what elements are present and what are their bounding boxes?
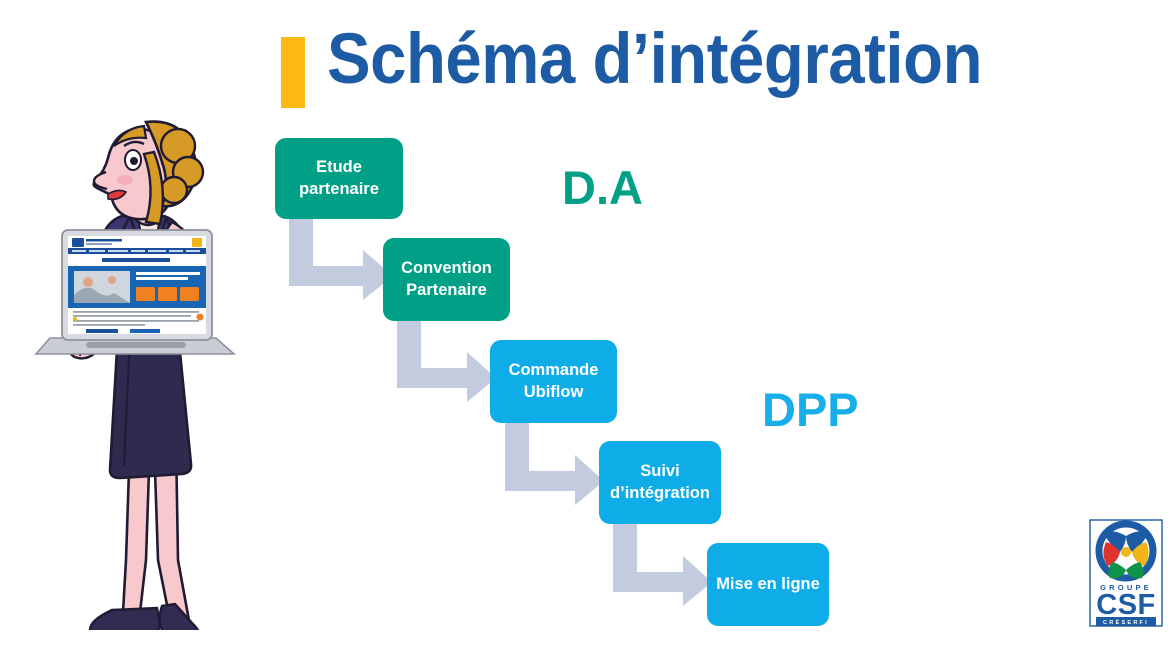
flow-box-line2: Partenaire (401, 280, 492, 302)
flow-box-commande-ubiflow[interactable]: Commande Ubiflow (490, 340, 617, 423)
logo-creserfi-text: CRÉSERFI (1103, 618, 1149, 626)
flow-box-line1: Mise en ligne (716, 574, 820, 596)
connector-arrow-3 (505, 423, 605, 505)
laptop-screen-website (68, 236, 206, 334)
flow-box-line2: Ubiflow (509, 382, 599, 404)
connector-arrow-2 (397, 320, 497, 402)
group-label-da: D.A (562, 160, 643, 215)
flow-box-convention-partenaire[interactable]: Convention Partenaire (383, 238, 510, 321)
woman-figure (70, 122, 203, 630)
slide-canvas: Schéma d’intégration (0, 0, 1172, 646)
groupe-csf-logo: GROUPE CSF CRÉSERFI (1086, 518, 1166, 628)
connector-arrow-1 (289, 218, 394, 300)
cartoon-woman-laptop-illustration (26, 110, 256, 630)
flow-box-line1: Suivi (610, 461, 710, 483)
flow-box-line1: Commande (509, 360, 599, 382)
emblem-figures (1103, 531, 1148, 578)
flow-box-line2: partenaire (299, 179, 379, 201)
flow-box-etude-partenaire[interactable]: Etude partenaire (275, 138, 403, 219)
flow-box-suivi-integration[interactable]: Suivi d’intégration (599, 441, 721, 524)
flow-box-mise-en-ligne[interactable]: Mise en ligne (707, 543, 829, 626)
logo-csf-text: CSF (1096, 589, 1156, 621)
group-label-dpp: DPP (762, 382, 859, 437)
page-title: Schéma d’intégration (327, 23, 982, 98)
title-accent-bar (281, 37, 305, 108)
flow-box-line1: Etude (299, 157, 379, 179)
laptop (36, 230, 234, 354)
flow-box-line1: Convention (401, 258, 492, 280)
flow-box-line2: d’intégration (610, 483, 710, 505)
connector-arrow-4 (613, 524, 713, 606)
